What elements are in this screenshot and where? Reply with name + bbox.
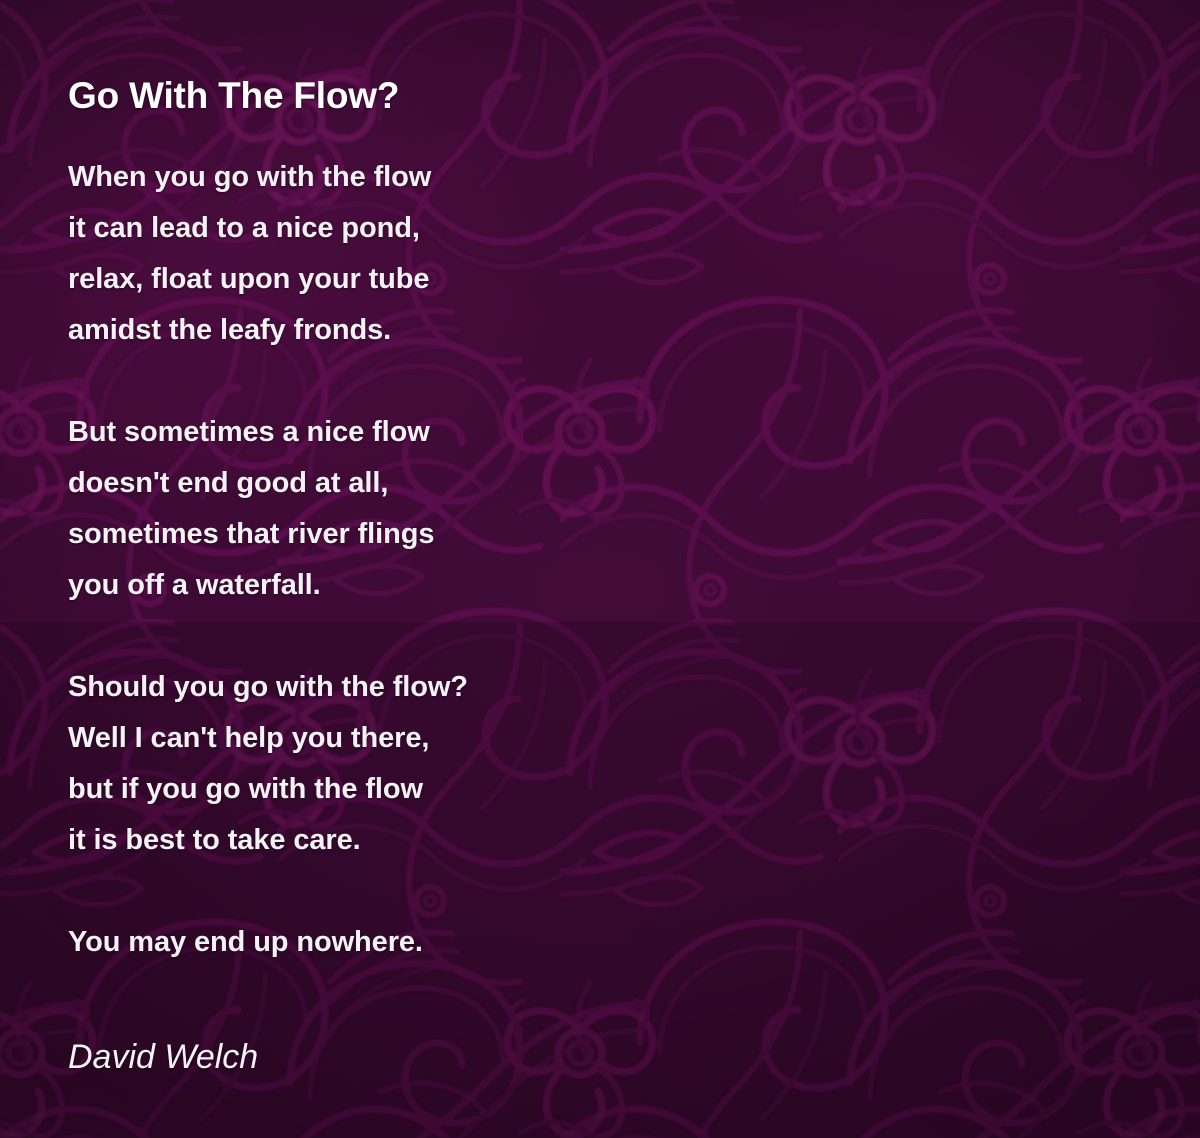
poem-card: Go With The Flow? When you go with the f… — [0, 0, 1200, 1138]
poem-title: Go With The Flow? — [68, 75, 399, 117]
poem-line: But sometimes a nice flow — [68, 407, 768, 458]
poem-body: When you go with the flow it can lead to… — [68, 152, 768, 968]
poem-line: Well I can't help you there, — [68, 713, 768, 764]
poem-line: Should you go with the flow? — [68, 662, 768, 713]
poem-stanza: But sometimes a nice flow doesn't end go… — [68, 407, 768, 611]
poem-line: doesn't end good at all, — [68, 458, 768, 509]
poem-stanza: You may end up nowhere. — [68, 917, 768, 968]
poem-author: David Welch — [68, 1038, 258, 1077]
poem-content: Go With The Flow? When you go with the f… — [0, 0, 1200, 1138]
poem-line: When you go with the flow — [68, 152, 768, 203]
poem-line: You may end up nowhere. — [68, 917, 768, 968]
poem-line: but if you go with the flow — [68, 764, 768, 815]
poem-line: it can lead to a nice pond, — [68, 203, 768, 254]
poem-line: you off a waterfall. — [68, 560, 768, 611]
poem-line: amidst the leafy fronds. — [68, 305, 768, 356]
poem-line: relax, float upon your tube — [68, 254, 768, 305]
poem-stanza: Should you go with the flow? Well I can'… — [68, 662, 768, 866]
poem-stanza: When you go with the flow it can lead to… — [68, 152, 768, 356]
poem-line: it is best to take care. — [68, 815, 768, 866]
poem-line: sometimes that river flings — [68, 509, 768, 560]
